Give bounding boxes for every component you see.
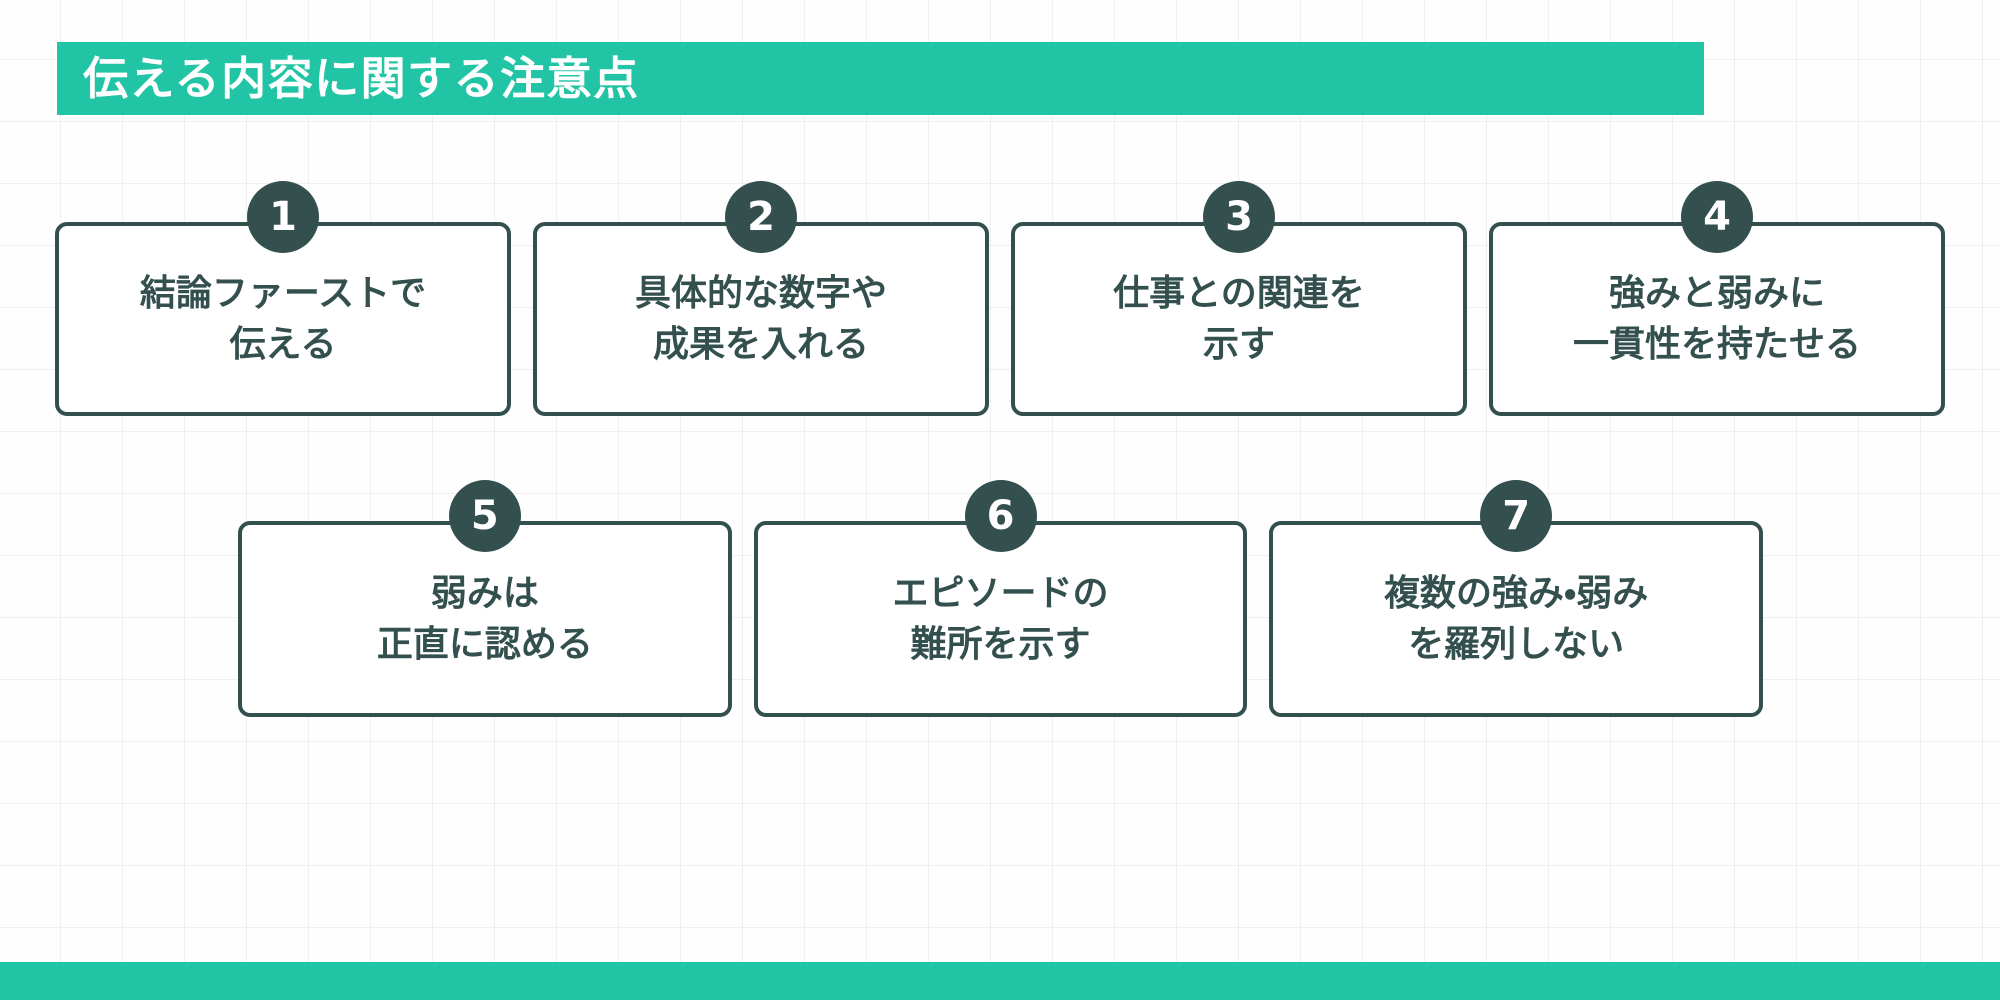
card-4[interactable]: 4 強みと弱みに 一貫性を持たせる xyxy=(1489,222,1945,416)
card-7-number-badge: 7 xyxy=(1480,480,1552,552)
card-2-line-1: 具体的な数字や xyxy=(635,268,887,319)
card-6-number-badge: 6 xyxy=(965,480,1037,552)
card-7-line-2: を羅列しない xyxy=(1384,619,1648,670)
card-3-line-2: 示す xyxy=(1113,319,1365,370)
card-3-number-badge: 3 xyxy=(1203,181,1275,253)
card-2-number-badge: 2 xyxy=(725,181,797,253)
card-7[interactable]: 7 複数の強み・弱み を羅列しない xyxy=(1269,521,1763,717)
card-2[interactable]: 2 具体的な数字や 成果を入れる xyxy=(533,222,989,416)
card-row-top: 1 結論ファーストで 伝える 2 具体的な数字や 成果を入れる 3 仕事との関連… xyxy=(55,222,1945,416)
card-2-line-2: 成果を入れる xyxy=(635,319,887,370)
card-1-text: 結論ファーストで 伝える xyxy=(140,268,426,370)
card-3-text: 仕事との関連を 示す xyxy=(1113,268,1365,370)
infographic-canvas: 伝える内容に関する注意点 1 結論ファーストで 伝える 2 具体的な数字や 成果… xyxy=(0,0,2000,1000)
card-6-line-2: 難所を示す xyxy=(893,619,1109,670)
card-4-text: 強みと弱みに 一貫性を持たせる xyxy=(1573,268,1861,370)
card-6-line-1: エピソードの xyxy=(893,568,1109,619)
card-5[interactable]: 5 弱みは 正直に認める xyxy=(238,521,732,717)
card-row-bottom: 5 弱みは 正直に認める 6 エピソードの 難所を示す 7 複数の強み・弱み を… xyxy=(238,521,1763,717)
bottom-accent-bar xyxy=(0,962,2000,1000)
card-3-line-1: 仕事との関連を xyxy=(1113,268,1365,319)
card-4-line-2: 一貫性を持たせる xyxy=(1573,319,1861,370)
card-5-line-2: 正直に認める xyxy=(377,619,593,670)
card-6-text: エピソードの 難所を示す xyxy=(893,568,1109,670)
card-1-line-2: 伝える xyxy=(140,319,426,370)
card-6[interactable]: 6 エピソードの 難所を示す xyxy=(754,521,1248,717)
card-5-line-1: 弱みは xyxy=(377,568,593,619)
card-4-number-badge: 4 xyxy=(1681,181,1753,253)
title-banner: 伝える内容に関する注意点 xyxy=(57,42,1704,115)
card-4-line-1: 強みと弱みに xyxy=(1573,268,1861,319)
card-5-text: 弱みは 正直に認める xyxy=(377,568,593,670)
card-1-line-1: 結論ファーストで xyxy=(140,268,426,319)
page-title: 伝える内容に関する注意点 xyxy=(83,56,640,101)
card-7-line-1: 複数の強み・弱み xyxy=(1384,568,1648,619)
card-2-text: 具体的な数字や 成果を入れる xyxy=(635,268,887,370)
card-1-number-badge: 1 xyxy=(247,181,319,253)
card-7-text: 複数の強み・弱み を羅列しない xyxy=(1384,568,1648,670)
card-3[interactable]: 3 仕事との関連を 示す xyxy=(1011,222,1467,416)
card-5-number-badge: 5 xyxy=(449,480,521,552)
card-1[interactable]: 1 結論ファーストで 伝える xyxy=(55,222,511,416)
